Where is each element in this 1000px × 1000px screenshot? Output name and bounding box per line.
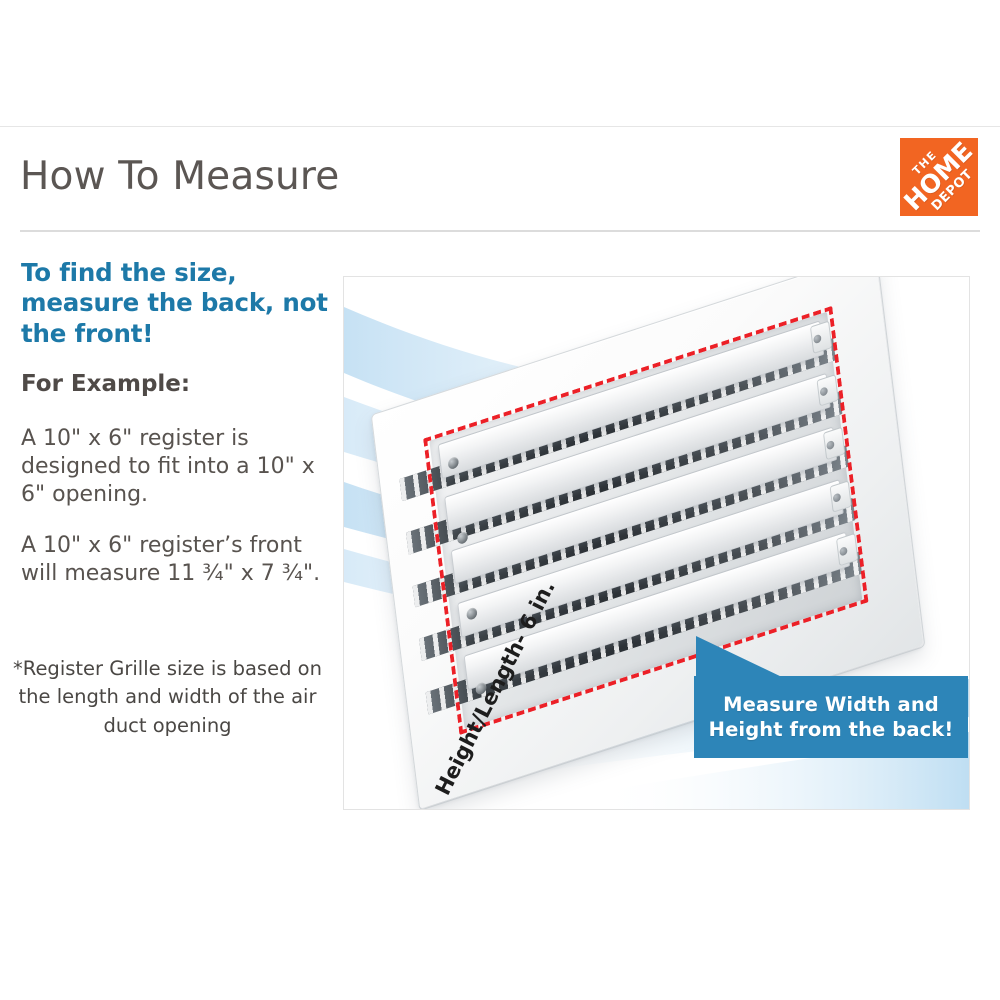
title-divider	[20, 230, 980, 232]
the-home-depot-logo: THE HOME DEPOT	[900, 138, 978, 216]
lede-heading: To find the size, measure the back, not …	[21, 258, 331, 349]
example-paragraph-1: A 10" x 6" register is designed to fit i…	[21, 425, 321, 509]
footnote-text: *Register Grille size is based on the le…	[10, 655, 325, 740]
for-example-heading: For Example:	[21, 373, 190, 396]
example-paragraph-2: A 10" x 6" register’s front will measure…	[21, 532, 321, 588]
how-to-measure-page: How To Measure THE HOME DEPOT To find th…	[0, 0, 1000, 1000]
callout-text: Measure Width and Height from the back!	[694, 676, 968, 758]
logo-inner: THE HOME DEPOT	[900, 138, 978, 216]
callout-pointer	[696, 636, 784, 678]
top-divider	[0, 126, 1000, 127]
measure-callout: Measure Width and Height from the back!	[694, 676, 968, 758]
page-title: How To Measure	[20, 157, 340, 196]
